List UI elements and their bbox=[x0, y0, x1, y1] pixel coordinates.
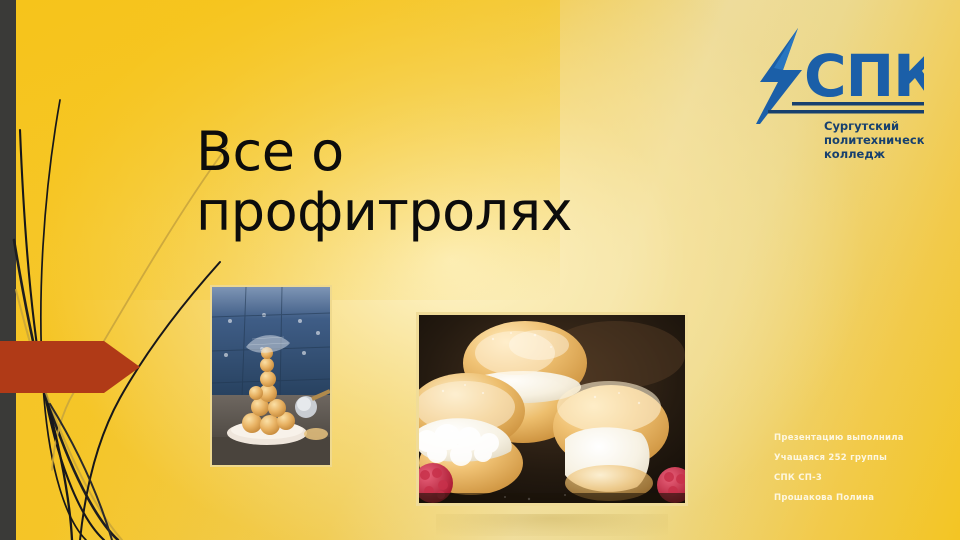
svg-text:СПК: СПК bbox=[804, 42, 924, 110]
presentation-slide: Все о профитролях bbox=[0, 0, 960, 540]
svg-text:Сургутский: Сургутский bbox=[824, 119, 899, 133]
cream-profiteroles-photo bbox=[416, 312, 688, 506]
page-title: Все о профитролях bbox=[196, 122, 796, 243]
author-line-4: Прошакова Полина bbox=[774, 488, 954, 508]
title-line-2: профитролях bbox=[196, 182, 796, 242]
photo-drop-shadow bbox=[436, 514, 668, 536]
svg-text:колледж: колледж bbox=[824, 147, 886, 160]
author-block: Презентацию выполнила Учащаяся 252 групп… bbox=[774, 428, 954, 508]
title-line-1: Все о bbox=[196, 122, 796, 182]
svg-text:политехнический: политехнический bbox=[824, 133, 924, 147]
lightning-bolt-mark bbox=[756, 28, 802, 124]
author-line-3: СПК СП-3 bbox=[774, 468, 954, 488]
grass-blades-decoration bbox=[0, 0, 230, 540]
college-logo: СПК Сургутский политехнический колледж bbox=[752, 24, 924, 160]
author-line-2: Учащаяся 252 группы bbox=[774, 448, 954, 468]
profiterole-tower-photo bbox=[210, 285, 332, 467]
author-line-1: Презентацию выполнила bbox=[774, 428, 954, 448]
